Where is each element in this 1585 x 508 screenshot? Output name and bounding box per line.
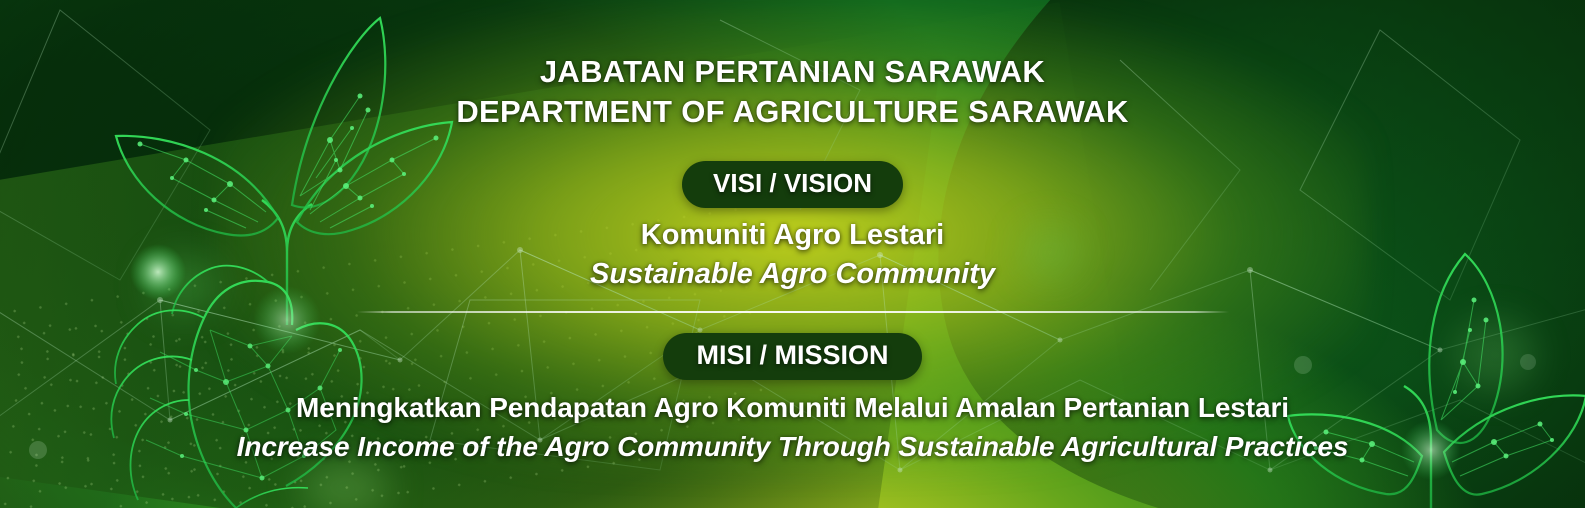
title-malay: JABATAN PERTANIAN SARAWAK [456,54,1128,90]
vision-mission-banner: JABATAN PERTANIAN SARAWAK DEPARTMENT OF … [0,0,1585,508]
vision-badge: VISI / VISION [682,161,903,208]
vision-statement-english: Sustainable Agro Community [590,255,995,293]
mission-statement-english: Increase Income of the Agro Community Th… [237,428,1349,466]
organisation-title: JABATAN PERTANIAN SARAWAK DEPARTMENT OF … [456,54,1128,134]
vision-statement-malay: Komuniti Agro Lestari [641,216,944,254]
section-divider [357,311,1229,313]
mission-badge: MISI / MISSION [663,333,921,380]
banner-content: JABATAN PERTANIAN SARAWAK DEPARTMENT OF … [0,0,1585,508]
title-english: DEPARTMENT OF AGRICULTURE SARAWAK [456,90,1128,134]
mission-statement-malay: Meningkatkan Pendapatan Agro Komuniti Me… [296,389,1289,426]
